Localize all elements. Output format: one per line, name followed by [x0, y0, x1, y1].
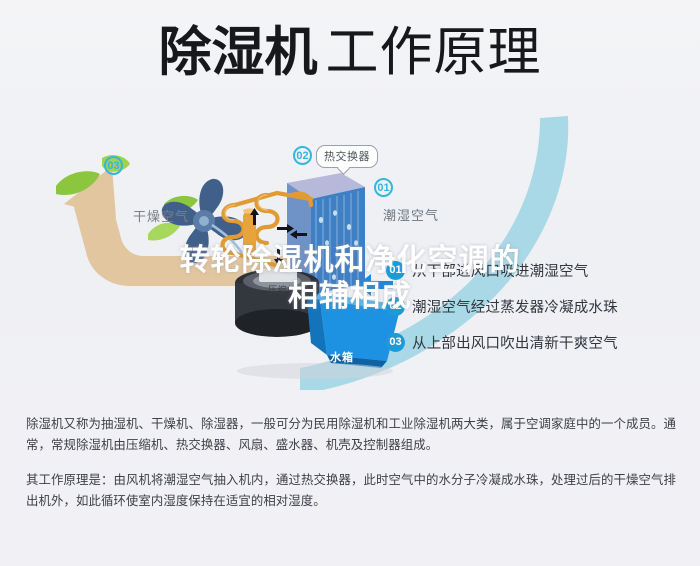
title-bold-part: 除湿机 [159, 23, 318, 82]
list-item: 01 从下部进风口吸进潮湿空气 [386, 252, 686, 288]
page-root: 除湿机工作原理 [0, 0, 700, 566]
water-tank-label: 水箱 [330, 349, 354, 365]
dehumidifier-machine-illustration [215, 165, 415, 380]
marker-02: 02 [293, 146, 312, 165]
infographic-card: 除湿机工作原理 [0, 0, 700, 400]
list-item: 02 潮湿空气经过蒸发器冷凝成水珠 [386, 288, 686, 324]
body-paragraph-1: 除湿机又称为抽湿机、干燥机、除湿器，一般可分为民用除湿机和工业除湿机两大类，属于… [26, 414, 676, 456]
humid-air-label: 潮湿空气 [383, 205, 439, 224]
marker-03: 03 [104, 156, 123, 175]
marker-02-number: 02 [293, 146, 312, 165]
page-title: 除湿机工作原理 [0, 26, 700, 79]
marker-01-number: 01 [374, 178, 393, 197]
dry-air-label: 干燥空气 [133, 206, 189, 225]
marker-01: 01 [374, 178, 393, 197]
list-item: 03 从上部出风口吹出清新干爽空气 [386, 324, 686, 360]
compressor-label: 压缩机 [268, 283, 297, 296]
step-badge-01: 01 [386, 261, 405, 280]
body-paragraph-2: 其工作原理是：由风机将潮湿空气抽入机内，通过热交换器，此时空气中的水分子冷凝成水… [26, 470, 676, 512]
heat-exchanger-callout: 热交换器 [316, 145, 378, 168]
step-text-01: 从下部进风口吸进潮湿空气 [412, 260, 588, 281]
step-badge-02: 02 [386, 297, 405, 316]
body-copy: 除湿机又称为抽湿机、干燥机、除湿器，一般可分为民用除湿机和工业除湿机两大类，属于… [26, 414, 676, 512]
title-light-part: 工作原理 [326, 23, 542, 82]
step-badge-03: 03 [386, 333, 405, 352]
steps-list: 01 从下部进风口吸进潮湿空气 02 潮湿空气经过蒸发器冷凝成水珠 03 从上部… [386, 252, 686, 360]
step-text-02: 潮湿空气经过蒸发器冷凝成水珠 [412, 296, 618, 317]
step-text-03: 从上部出风口吹出清新干爽空气 [412, 332, 618, 353]
marker-03-number: 03 [104, 156, 123, 175]
